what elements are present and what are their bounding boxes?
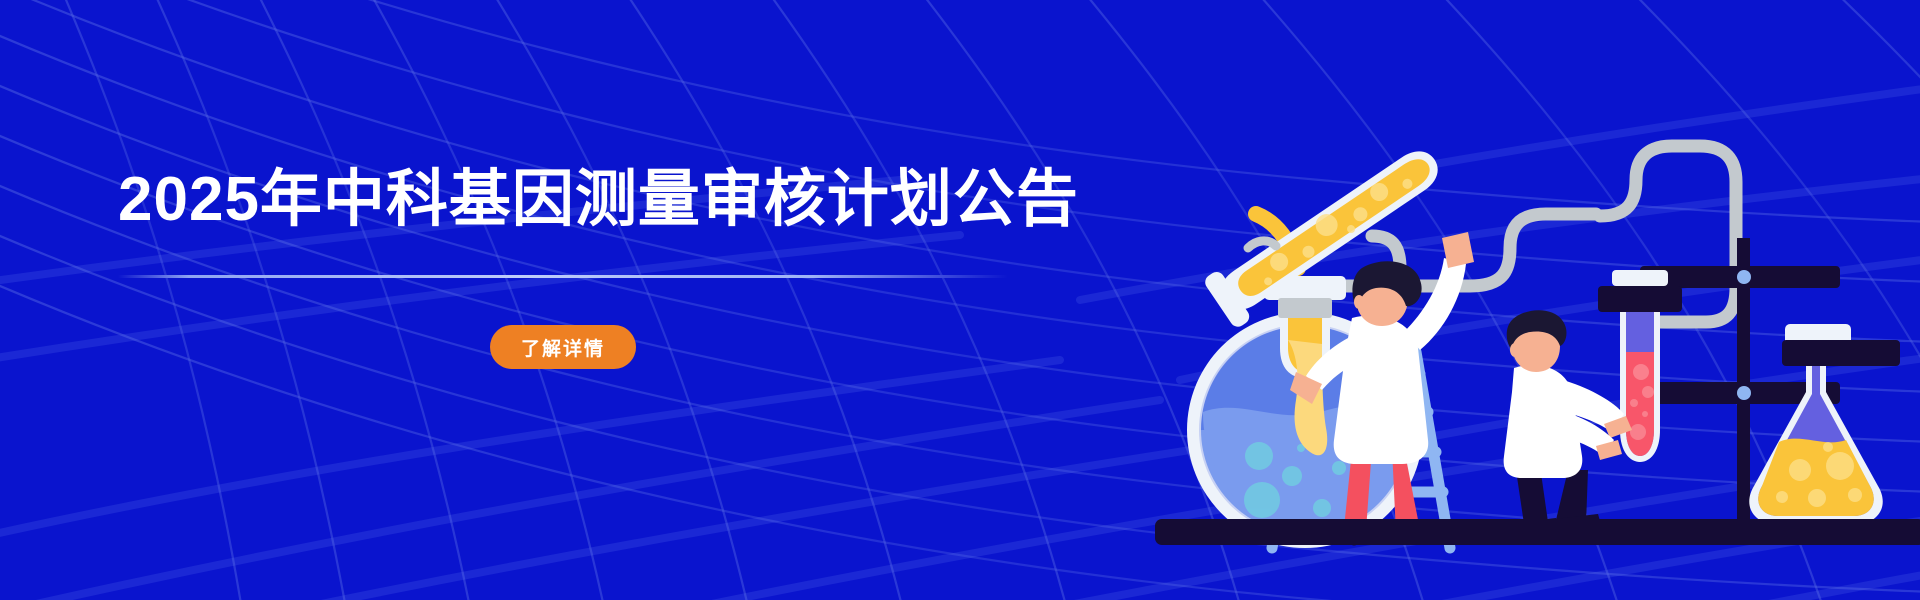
learn-more-button[interactable]: 了解详情: [490, 325, 636, 369]
promo-banner: 2025年中科基因测量审核计划公告 了解详情: [0, 0, 1920, 600]
base-bar: [1155, 519, 1920, 545]
title-divider: [118, 275, 1008, 278]
erlenmeyer-flask-icon: [1749, 324, 1900, 524]
cta-container: 了解详情: [118, 325, 1008, 369]
banner-text-block: 2025年中科基因测量审核计划公告 了解详情: [118, 168, 1078, 369]
page-title: 2025年中科基因测量审核计划公告: [118, 168, 1078, 231]
scientist-with-test-tube-icon: [1502, 310, 1632, 534]
